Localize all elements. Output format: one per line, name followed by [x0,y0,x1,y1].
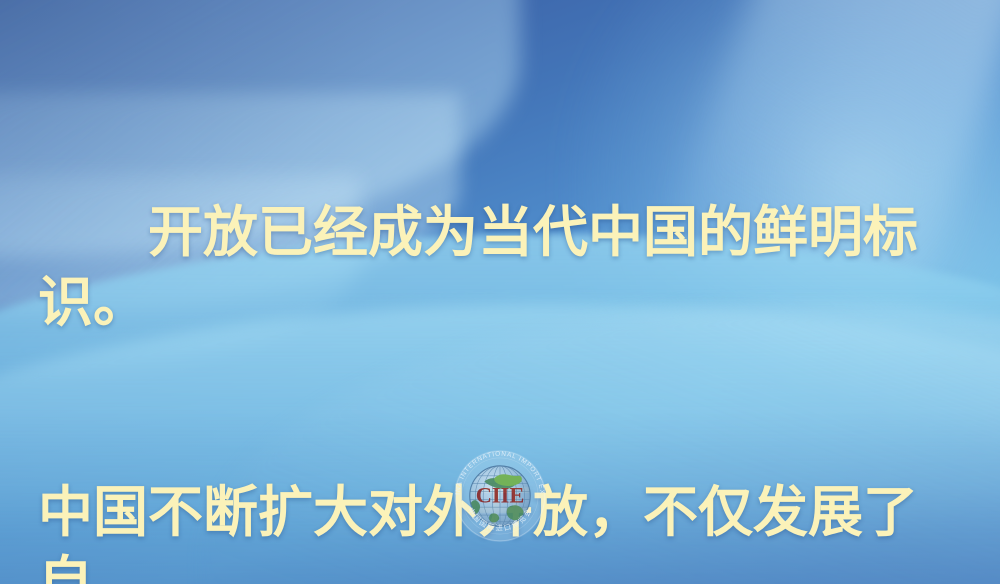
ciie-logo-icon: CIIE CHINA INTERNATIONAL IMPORT EXPO 中国国… [444,440,556,552]
poster-canvas: 开放已经成为当代中国的鲜明标识。 中国不断扩大对外开放，不仅发展了自 己，也造福… [0,0,1000,584]
headline-line-1: 开放已经成为当代中国的鲜明标识。 [38,198,968,338]
ciie-logo: CIIE CHINA INTERNATIONAL IMPORT EXPO 中国国… [444,440,556,552]
emblem-acronym: CIIE [476,483,525,508]
